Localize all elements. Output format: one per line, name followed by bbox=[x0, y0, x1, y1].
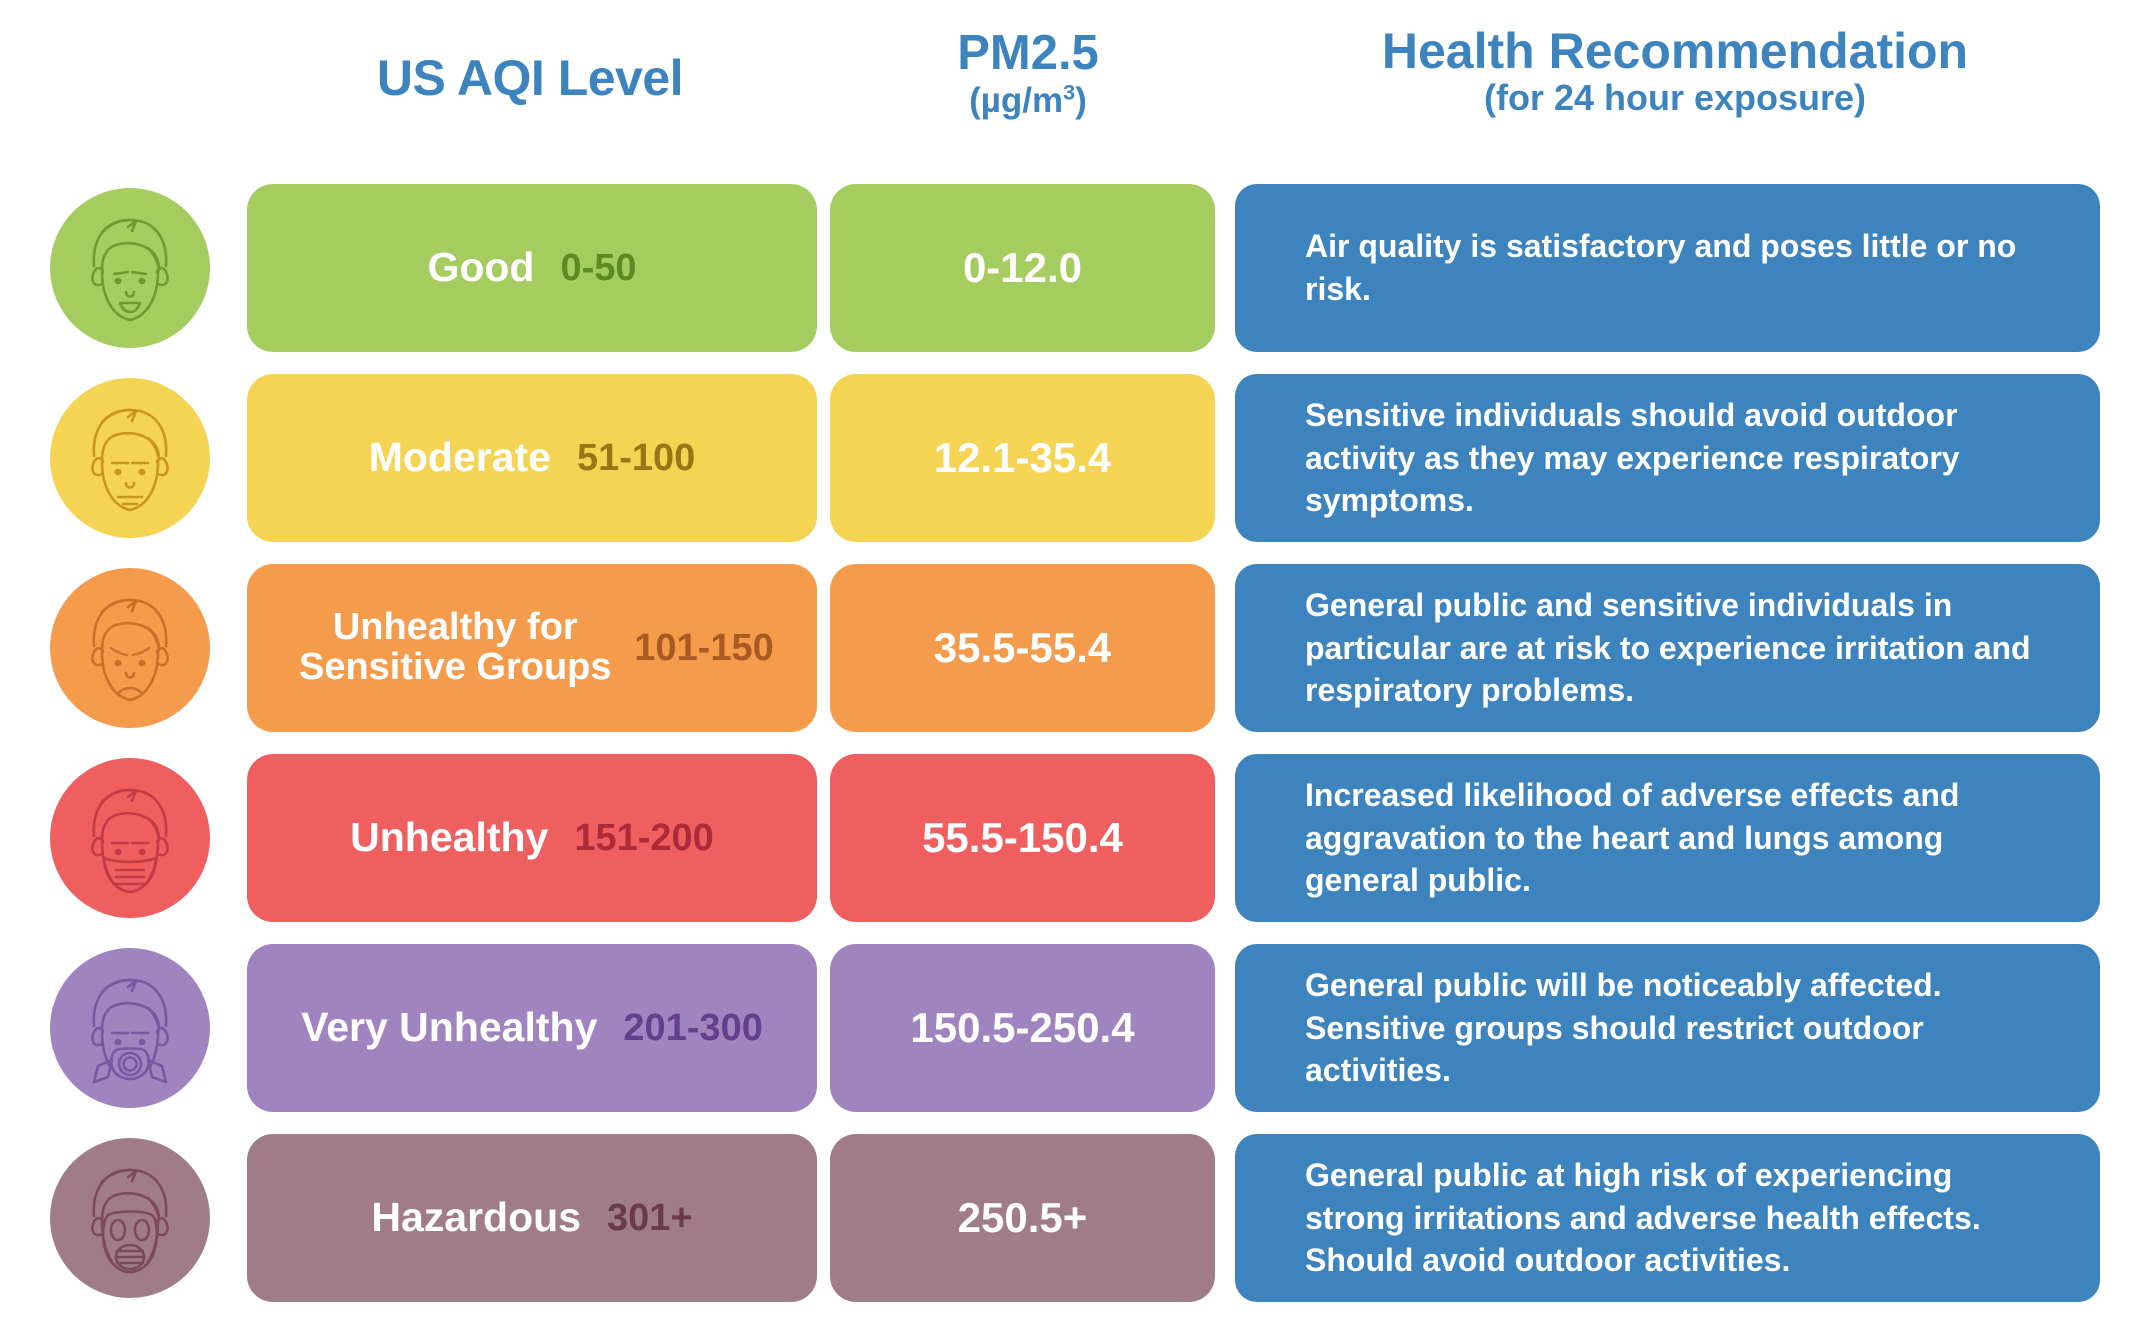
face-sad-icon bbox=[50, 568, 210, 728]
aqi-level-card: Unhealthy for Sensitive Groups 101-150 bbox=[247, 564, 817, 732]
health-recommendation-text: General public will be noticeably affect… bbox=[1305, 964, 2052, 1092]
pm25-card: 0-12.0 bbox=[830, 184, 1215, 352]
face-surgical-mask-icon bbox=[50, 758, 210, 918]
aqi-level-range: 151-200 bbox=[574, 817, 713, 860]
face-gas-mask-icon bbox=[50, 1138, 210, 1298]
table-row: Unhealthy 151-200 55.5-150.4 Increased l… bbox=[0, 750, 2134, 940]
face-respirator-icon bbox=[50, 948, 210, 1108]
aqi-icon-cell bbox=[50, 378, 210, 538]
pm25-value: 0-12.0 bbox=[963, 244, 1082, 292]
table-header: US AQI Level PM2.5 (µg/m3) Health Recomm… bbox=[0, 0, 2134, 180]
column-header-health-text: Health Recommendation bbox=[1382, 23, 1968, 79]
health-recommendation-card: Sensitive individuals should avoid outdo… bbox=[1235, 374, 2100, 542]
aqi-level-name: Moderate bbox=[369, 436, 551, 479]
aqi-level-card: Very Unhealthy 201-300 bbox=[247, 944, 817, 1112]
health-recommendation-text: General public at high risk of experienc… bbox=[1305, 1154, 2052, 1282]
aqi-level-name: Unhealthy for Sensitive Groups bbox=[290, 608, 620, 688]
aqi-level-range: 101-150 bbox=[634, 627, 773, 670]
pm25-value: 250.5+ bbox=[958, 1194, 1088, 1242]
column-header-pm25: PM2.5 (µg/m3) bbox=[828, 28, 1228, 119]
column-header-aqi-level: US AQI Level bbox=[245, 52, 815, 105]
aqi-level-range: 201-300 bbox=[623, 1007, 762, 1050]
pm25-value: 35.5-55.4 bbox=[934, 624, 1111, 672]
aqi-table-body: Good 0-50 0-12.0 Air quality is satisfac… bbox=[0, 180, 2134, 1320]
face-neutral-icon bbox=[50, 378, 210, 538]
table-row: Moderate 51-100 12.1-35.4 Sensitive indi… bbox=[0, 370, 2134, 560]
table-row: Good 0-50 0-12.0 Air quality is satisfac… bbox=[0, 180, 2134, 370]
column-header-aqi-level-text: US AQI Level bbox=[377, 50, 683, 106]
health-recommendation-text: Sensitive individuals should avoid outdo… bbox=[1305, 394, 2052, 522]
aqi-level-card: Moderate 51-100 bbox=[247, 374, 817, 542]
aqi-level-card: Unhealthy 151-200 bbox=[247, 754, 817, 922]
pm25-card: 12.1-35.4 bbox=[830, 374, 1215, 542]
pm25-units-exponent: 3 bbox=[1063, 79, 1075, 104]
aqi-icon-cell bbox=[50, 948, 210, 1108]
face-smiling-icon bbox=[50, 188, 210, 348]
pm25-value: 150.5-250.4 bbox=[910, 1004, 1134, 1052]
health-recommendation-card: General public will be noticeably affect… bbox=[1235, 944, 2100, 1112]
table-row: Unhealthy for Sensitive Groups 101-150 3… bbox=[0, 560, 2134, 750]
health-recommendation-text: Increased likelihood of adverse effects … bbox=[1305, 774, 2052, 902]
aqi-level-name: Hazardous bbox=[371, 1196, 581, 1239]
aqi-icon-cell bbox=[50, 1138, 210, 1298]
pm25-units-prefix: (µg/m bbox=[969, 81, 1063, 120]
aqi-level-range: 301+ bbox=[607, 1197, 693, 1240]
pm25-card: 250.5+ bbox=[830, 1134, 1215, 1302]
column-header-health-recommendation: Health Recommendation (for 24 hour expos… bbox=[1235, 25, 2115, 117]
table-row: Very Unhealthy 201-300 150.5-250.4 Gener… bbox=[0, 940, 2134, 1130]
aqi-icon-cell bbox=[50, 758, 210, 918]
health-recommendation-card: General public at high risk of experienc… bbox=[1235, 1134, 2100, 1302]
health-recommendation-card: Increased likelihood of adverse effects … bbox=[1235, 754, 2100, 922]
aqi-icon-cell bbox=[50, 188, 210, 348]
column-header-pm25-text: PM2.5 bbox=[957, 26, 1099, 80]
aqi-level-range: 51-100 bbox=[577, 437, 695, 480]
health-recommendation-card: Air quality is satisfactory and poses li… bbox=[1235, 184, 2100, 352]
pm25-units-suffix: ) bbox=[1075, 81, 1087, 120]
pm25-card: 55.5-150.4 bbox=[830, 754, 1215, 922]
health-recommendation-text: General public and sensitive individuals… bbox=[1305, 584, 2052, 712]
aqi-level-name: Very Unhealthy bbox=[301, 1006, 597, 1049]
column-header-health-subtitle: (for 24 hour exposure) bbox=[1235, 79, 2115, 117]
aqi-icon-cell bbox=[50, 568, 210, 728]
aqi-level-card: Hazardous 301+ bbox=[247, 1134, 817, 1302]
pm25-value: 12.1-35.4 bbox=[934, 434, 1111, 482]
pm25-card: 35.5-55.4 bbox=[830, 564, 1215, 732]
aqi-level-name: Unhealthy bbox=[350, 816, 548, 859]
aqi-level-name: Good bbox=[427, 246, 534, 289]
health-recommendation-text: Air quality is satisfactory and poses li… bbox=[1305, 225, 2052, 310]
column-header-pm25-units: (µg/m3) bbox=[828, 82, 1228, 119]
aqi-level-range: 0-50 bbox=[560, 247, 636, 290]
table-row: Hazardous 301+ 250.5+ General public at … bbox=[0, 1130, 2134, 1320]
pm25-card: 150.5-250.4 bbox=[830, 944, 1215, 1112]
health-recommendation-card: General public and sensitive individuals… bbox=[1235, 564, 2100, 732]
pm25-value: 55.5-150.4 bbox=[922, 814, 1123, 862]
aqi-level-card: Good 0-50 bbox=[247, 184, 817, 352]
